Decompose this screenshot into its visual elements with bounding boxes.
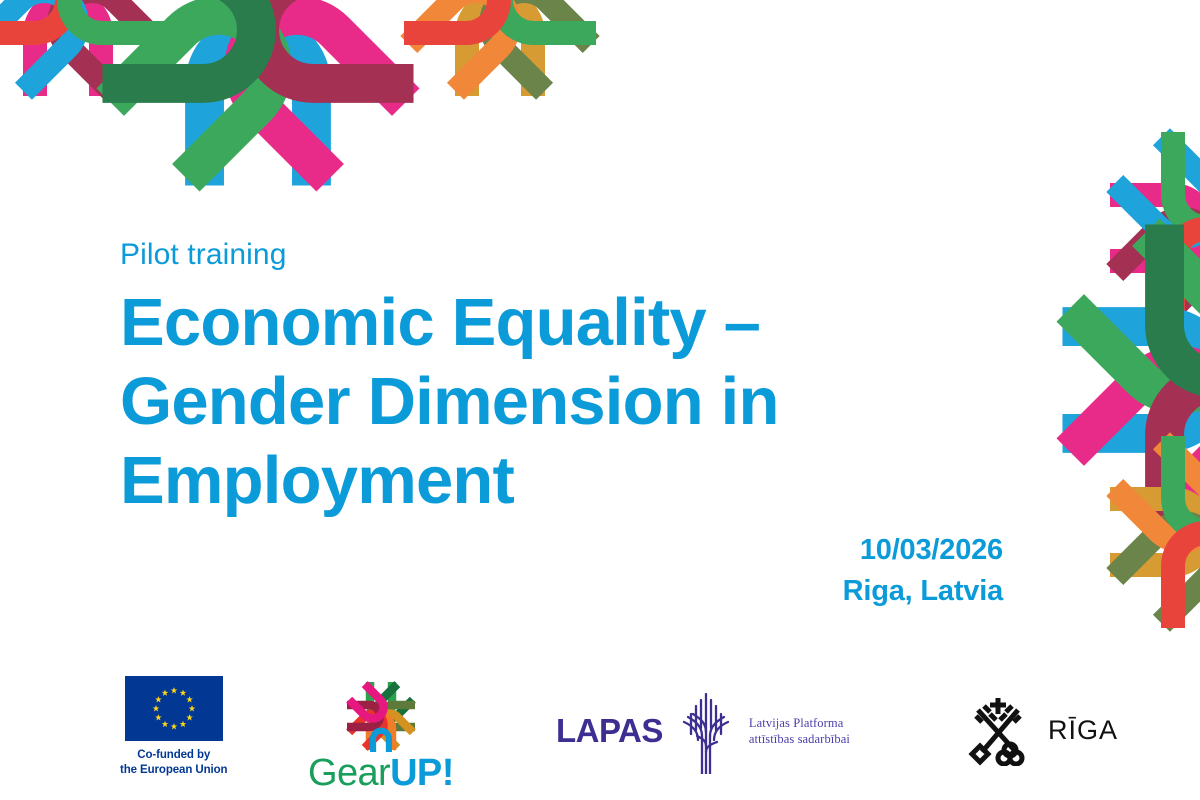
eu-stars-icon xyxy=(125,676,223,741)
page-title-line-1: Economic Equality – xyxy=(120,283,1000,362)
lapas-tagline-line-2: attīstības sadarbībai xyxy=(749,731,850,748)
riga-logo: RĪGA xyxy=(962,694,1118,766)
page-title: Economic Equality – Gender Dimension in … xyxy=(120,283,1000,520)
eu-caption: Co-funded by the European Union xyxy=(120,748,227,777)
eu-logo: Co-funded by the European Union xyxy=(120,676,227,777)
lapas-tagline-line-1: Latvijas Platforma xyxy=(749,715,850,732)
page-title-line-3: Employment xyxy=(120,441,1000,520)
event-date: 10/03/2026 xyxy=(843,530,1003,571)
gearup-mark-icon xyxy=(328,676,434,752)
eu-caption-line-1: Co-funded by xyxy=(120,748,227,763)
crossed-keys-icon xyxy=(962,694,1034,766)
lapas-wordmark: LAPAS xyxy=(556,712,663,750)
lapas-tree-icon xyxy=(677,688,735,774)
arch-pattern-top xyxy=(0,0,640,132)
gearup-word-bang: ! xyxy=(442,752,454,794)
gearup-logo: GearUP! xyxy=(308,676,454,792)
arch-pattern-right xyxy=(1098,150,1200,610)
gearup-wordmark: GearUP! xyxy=(308,754,454,792)
headline-block: Pilot training Economic Equality – Gende… xyxy=(120,238,1000,520)
event-location: Riga, Latvia xyxy=(843,571,1003,612)
gearup-word-gear: Gear xyxy=(308,752,390,794)
eu-caption-line-2: the European Union xyxy=(120,763,227,778)
page-title-line-2: Gender Dimension in xyxy=(120,362,1000,441)
logo-row: Co-funded by the European Union xyxy=(0,672,1200,800)
lapas-logo: LAPAS xyxy=(556,688,850,774)
eyebrow-label: Pilot training xyxy=(120,238,1000,271)
eu-flag-icon xyxy=(125,676,223,741)
lapas-tagline: Latvijas Platforma attīstības sadarbībai xyxy=(749,715,850,748)
gearup-word-up: UP xyxy=(390,752,442,794)
poster-canvas: Pilot training Economic Equality – Gende… xyxy=(0,0,1200,800)
riga-wordmark: RĪGA xyxy=(1048,715,1118,746)
event-details: 10/03/2026 Riga, Latvia xyxy=(843,530,1003,612)
